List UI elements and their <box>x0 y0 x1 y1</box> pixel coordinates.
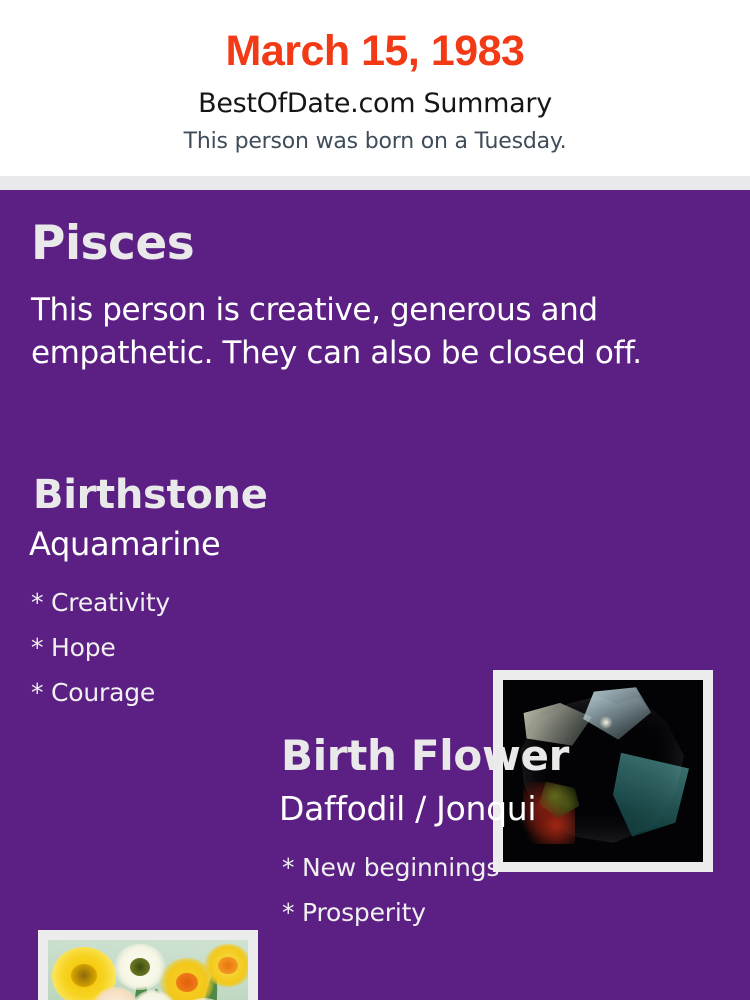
site-summary-label: BestOfDate.com Summary <box>0 73 750 117</box>
daffodil-bloom <box>204 944 248 987</box>
content-panel: Pisces This person is creative, generous… <box>0 190 750 1000</box>
birth-flower-image <box>48 940 248 1000</box>
zodiac-description: This person is creative, generous and em… <box>31 289 703 375</box>
birthstone-name: Aquamarine <box>29 528 220 560</box>
summary-card: March 15, 1983 BestOfDate.com Summary Th… <box>0 0 750 1000</box>
bloom-core <box>130 958 151 977</box>
bloom-core <box>176 973 198 992</box>
birth-flower-image-frame <box>38 930 258 1000</box>
bloom-core <box>71 964 97 987</box>
zodiac-sign-heading: Pisces <box>31 220 194 267</box>
birth-flower-name: Daffodil / Jonqui <box>279 792 536 825</box>
daffodil-bloom <box>114 944 166 991</box>
bloom-core <box>218 957 237 974</box>
list-item: * Courage <box>31 670 170 715</box>
birth-weekday-note: This person was born on a Tuesday. <box>0 117 750 153</box>
list-item: * New beginnings <box>282 845 499 890</box>
list-item: * Hope <box>31 625 170 670</box>
birth-flower-heading: Birth Flower <box>281 735 569 777</box>
birthstone-trait-list: * Creativity * Hope * Courage <box>31 580 170 715</box>
birthstone-heading: Birthstone <box>33 475 268 515</box>
header-divider <box>0 176 750 190</box>
birth-flower-trait-list: * New beginnings * Prosperity <box>282 845 499 935</box>
list-item: * Creativity <box>31 580 170 625</box>
list-item: * Prosperity <box>282 890 499 935</box>
header: March 15, 1983 BestOfDate.com Summary Th… <box>0 0 750 176</box>
page-title-date: March 15, 1983 <box>0 0 750 73</box>
